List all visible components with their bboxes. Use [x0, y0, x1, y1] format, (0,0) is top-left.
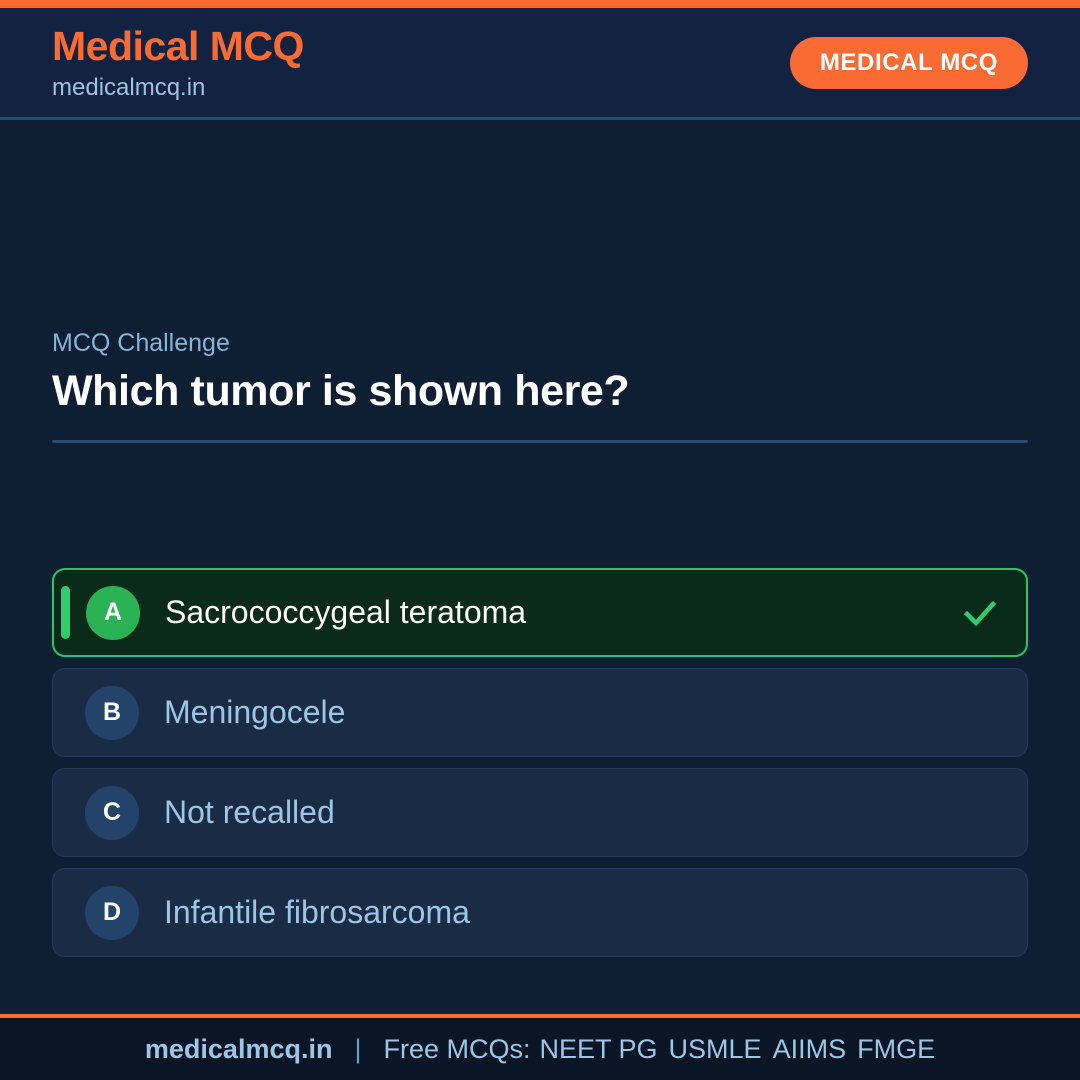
option-label: Infantile fibrosarcoma: [164, 895, 470, 930]
footer-exam-item: FMGE: [857, 1034, 935, 1064]
option-letter: A: [86, 586, 140, 640]
footer: medicalmcq.in | Free MCQs: NEET PGUSMLEA…: [0, 1014, 1080, 1080]
option-label: Sacrococcygeal teratoma: [165, 595, 526, 630]
footer-exam-item: NEET PG: [540, 1034, 669, 1064]
question-title: Which tumor is shown here?: [52, 367, 1028, 416]
brand-subtitle: medicalmcq.in: [52, 75, 304, 100]
brand-title: Medical MCQ: [52, 25, 304, 68]
footer-label: Free MCQs:: [383, 1034, 530, 1065]
options-list: A Sacrococcygeal teratoma B Meningocele …: [52, 568, 1028, 957]
footer-site-link[interactable]: medicalmcq.in: [145, 1034, 333, 1065]
main-content: MCQ Challenge Which tumor is shown here?…: [0, 120, 1080, 1014]
check-icon: [960, 593, 1000, 633]
question-eyebrow: MCQ Challenge: [52, 330, 1028, 358]
option-c[interactable]: C Not recalled: [52, 768, 1028, 857]
option-letter: B: [85, 686, 139, 740]
top-accent-bar: [0, 0, 1080, 8]
option-d[interactable]: D Infantile fibrosarcoma: [52, 868, 1028, 957]
option-b[interactable]: B Meningocele: [52, 668, 1028, 757]
option-label: Meningocele: [164, 695, 345, 730]
header-badge: MEDICAL MCQ: [790, 37, 1028, 89]
option-letter: D: [85, 886, 139, 940]
question-zone: MCQ Challenge Which tumor is shown here?: [52, 330, 1028, 443]
brand-block: Medical MCQ medicalmcq.in: [52, 25, 304, 100]
header: Medical MCQ medicalmcq.in MEDICAL MCQ: [0, 8, 1080, 120]
option-letter: C: [85, 786, 139, 840]
footer-exam-item: USMLE: [669, 1034, 773, 1064]
footer-exam-list: NEET PGUSMLEAIIMSFMGE: [531, 1034, 936, 1065]
footer-inner: medicalmcq.in | Free MCQs: NEET PGUSMLEA…: [145, 1034, 935, 1065]
mcq-card: Medical MCQ medicalmcq.in MEDICAL MCQ MC…: [0, 0, 1080, 1080]
correct-accent-bar: [61, 586, 70, 639]
question-divider: [52, 440, 1028, 443]
option-a[interactable]: A Sacrococcygeal teratoma: [52, 568, 1028, 657]
footer-separator: |: [332, 1034, 383, 1065]
footer-exam-item: AIIMS: [773, 1034, 858, 1064]
option-label: Not recalled: [164, 795, 335, 830]
